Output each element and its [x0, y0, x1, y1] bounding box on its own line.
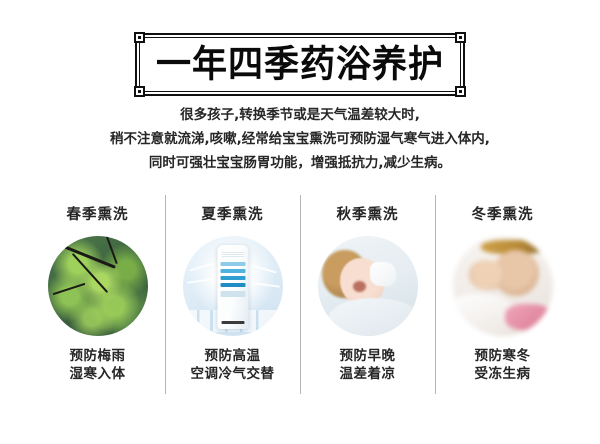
frame-corner-ornament-top-right: [455, 32, 466, 43]
mouth-shape: [353, 281, 366, 292]
vent-shape: [220, 269, 245, 273]
frame-corner-ornament-top-left: [134, 32, 145, 43]
caption-line-2: 湿寒入体: [70, 365, 126, 383]
season-title-autumn: 秋季熏洗: [337, 203, 399, 224]
sick-child-in-bed-photo: [453, 236, 553, 336]
season-column-winter: 冬季熏洗 预防寒冬 受冻生病: [435, 193, 570, 398]
season-caption-winter: 预防寒冬 受冻生病: [475, 347, 531, 383]
season-title-winter: 冬季熏洗: [472, 203, 534, 224]
title-frame-inner: 一年四季药浴养护: [139, 37, 461, 92]
air-stream-shape: [253, 282, 279, 288]
branch-shape: [102, 236, 118, 264]
vent-shape: [220, 276, 245, 280]
body-shape: [328, 298, 418, 336]
poster-title: 一年四季药浴养护: [156, 46, 444, 83]
air-stream-shape: [251, 264, 277, 273]
season-title-summer: 夏季熏洗: [202, 203, 264, 224]
air-stream-shape: [186, 278, 212, 284]
spring-foliage-photo: [48, 236, 148, 336]
caption-line-1: 预防早晚: [340, 347, 396, 365]
grill-shape: [221, 252, 244, 257]
air-conditioner-shape: [217, 245, 248, 329]
frame-corner-ornament-bottom-right: [455, 86, 466, 97]
season-caption-spring: 预防梅雨 湿寒入体: [70, 347, 126, 383]
season-column-spring: 春季熏洗 预防梅雨 湿寒入体: [30, 193, 165, 398]
season-title-spring: 春季熏洗: [67, 203, 129, 224]
air-stream-shape: [189, 262, 215, 271]
season-caption-summer: 预防高温 空调冷气交替: [191, 347, 275, 383]
hand-shape: [469, 260, 505, 290]
control-panel-shape: [220, 291, 245, 297]
caption-line-2: 温差着凉: [340, 365, 396, 383]
intro-line-3: 同时可强壮宝宝肠胃功能，增强抵抗力,减少生病。: [0, 151, 600, 175]
base-shape: [221, 321, 244, 324]
caption-line-1: 预防寒冬: [475, 347, 531, 365]
caption-line-1: 预防高温: [191, 347, 275, 365]
blanket-shape: [505, 304, 551, 330]
intro-paragraph: 很多孩子,转换季节或是天气温差较大时, 稍不注意就流涕,咳嗽,经常给宝宝熏洗可预…: [0, 103, 600, 175]
caption-line-2: 空调冷气交替: [191, 365, 275, 383]
vent-shape: [220, 283, 245, 287]
tissue-shape: [370, 262, 396, 286]
intro-line-1: 很多孩子,转换季节或是天气温差较大时,: [0, 103, 600, 127]
season-columns: 春季熏洗 预防梅雨 湿寒入体 夏季熏洗: [30, 193, 570, 398]
intro-line-2: 稍不注意就流涕,咳嗽,经常给宝宝熏洗可预防湿气寒气进入体内,: [0, 127, 600, 151]
air-cooler-photo: [183, 236, 283, 336]
caption-line-1: 预防梅雨: [70, 347, 126, 365]
frame-corner-ornament-bottom-left: [134, 86, 145, 97]
caption-line-2: 受冻生病: [475, 365, 531, 383]
sneezing-child-photo: [318, 236, 418, 336]
branch-shape: [52, 283, 85, 295]
season-column-autumn: 秋季熏洗 预防早晚 温差着凉: [300, 193, 435, 398]
season-column-summer: 夏季熏洗 预防高温 空调冷气交替: [165, 193, 300, 398]
title-frame: 一年四季药浴养护: [135, 33, 465, 96]
vent-shape: [220, 262, 245, 266]
season-caption-autumn: 预防早晚 温差着凉: [340, 347, 396, 383]
